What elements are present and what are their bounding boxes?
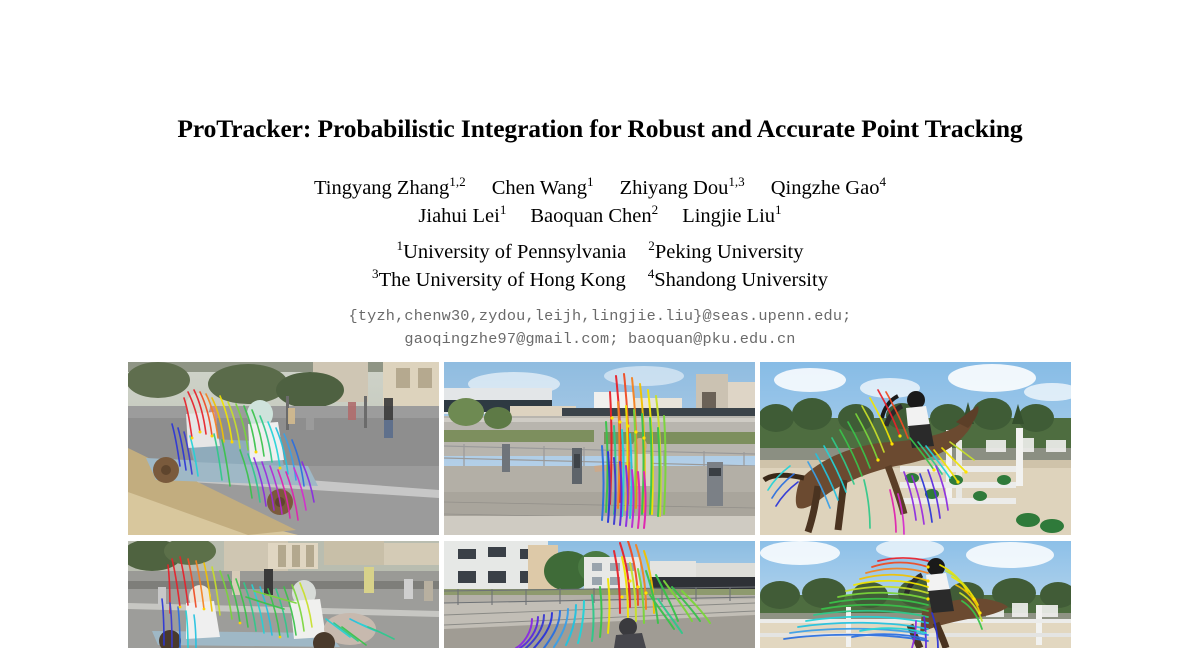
- affiliation-block: 1University of Pennsylvania2Peking Unive…: [0, 238, 1200, 294]
- author-line-1: Tingyang Zhang1,2Chen Wang1Zhiyang Dou1,…: [0, 174, 1200, 202]
- author-name: Jiahui Lei: [418, 205, 499, 227]
- author-entry: Zhiyang Dou1,3: [620, 177, 745, 199]
- author-affiliation-marks: 1: [500, 202, 507, 217]
- author-name: Qingzhe Gao: [771, 177, 880, 199]
- author-affiliation-marks: 1,3: [728, 174, 744, 189]
- affiliation-name: Peking University: [655, 241, 804, 263]
- author-entry: Baoquan Chen2: [530, 205, 658, 227]
- author-name: Zhiyang Dou: [620, 177, 729, 199]
- author-block: Tingyang Zhang1,2Chen Wang1Zhiyang Dou1,…: [0, 174, 1200, 230]
- author-name: Baoquan Chen: [530, 205, 651, 227]
- teaser-image-plaza-frame-2: [444, 541, 755, 648]
- author-name: Chen Wang: [492, 177, 587, 199]
- email-line-1[interactable]: {tyzh,chenw30,zydou,leijh,lingjie.liu}@s…: [0, 305, 1200, 328]
- author-entry: Lingjie Liu1: [682, 205, 781, 227]
- affiliation-name: The University of Hong Kong: [379, 269, 626, 291]
- author-affiliation-marks: 1: [775, 202, 782, 217]
- teaser-figure: [128, 362, 1073, 654]
- teaser-row-bottom: [128, 541, 1073, 648]
- teaser-row-top: [128, 362, 1073, 535]
- author-name: Lingjie Liu: [682, 205, 775, 227]
- teaser-image-soapbox-frame-2: [128, 541, 439, 648]
- email-line-2[interactable]: gaoqingzhe97@gmail.com; baoquan@pku.edu.…: [0, 328, 1200, 351]
- author-entry: Qingzhe Gao4: [771, 177, 886, 199]
- teaser-image-horse-jump-frame-2: [760, 541, 1071, 648]
- affiliation-entry: 4Shandong University: [648, 269, 828, 291]
- author-affiliation-marks: 2: [652, 202, 659, 217]
- author-name: Tingyang Zhang: [314, 177, 449, 199]
- teaser-image-horse-jump-frame-1: [760, 362, 1071, 535]
- affiliation-name: University of Pennsylvania: [403, 241, 626, 263]
- scene-horse-2: [760, 541, 1071, 648]
- teaser-image-plaza-frame-1: [444, 362, 755, 535]
- scene-soapbox-2: [128, 541, 439, 648]
- email-block: {tyzh,chenw30,zydou,leijh,lingjie.liu}@s…: [0, 305, 1200, 351]
- affiliation-entry: 2Peking University: [648, 241, 803, 263]
- teaser-image-soapbox-frame-1: [128, 362, 439, 535]
- page-title: ProTracker: Probabilistic Integration fo…: [0, 114, 1200, 143]
- affiliation-line-1: 1University of Pennsylvania2Peking Unive…: [0, 238, 1200, 266]
- scene-plaza-2: [444, 541, 755, 648]
- author-affiliation-marks: 4: [879, 174, 886, 189]
- author-entry: Tingyang Zhang1,2: [314, 177, 466, 199]
- paper-page: ProTracker: Probabilistic Integration fo…: [0, 0, 1200, 648]
- affiliation-entry: 1University of Pennsylvania: [397, 241, 627, 263]
- affiliation-entry: 3The University of Hong Kong: [372, 269, 626, 291]
- author-entry: Chen Wang1: [492, 177, 594, 199]
- affiliation-name: Shandong University: [654, 269, 828, 291]
- author-affiliation-marks: 1,2: [449, 174, 465, 189]
- author-line-2: Jiahui Lei1Baoquan Chen2Lingjie Liu1: [0, 202, 1200, 230]
- scene-soapbox-1: [128, 362, 439, 535]
- affiliation-line-2: 3The University of Hong Kong4Shandong Un…: [0, 266, 1200, 294]
- author-affiliation-marks: 1: [587, 174, 594, 189]
- scene-horse-1: [760, 362, 1071, 535]
- author-entry: Jiahui Lei1: [418, 205, 506, 227]
- scene-plaza-1: [444, 362, 755, 535]
